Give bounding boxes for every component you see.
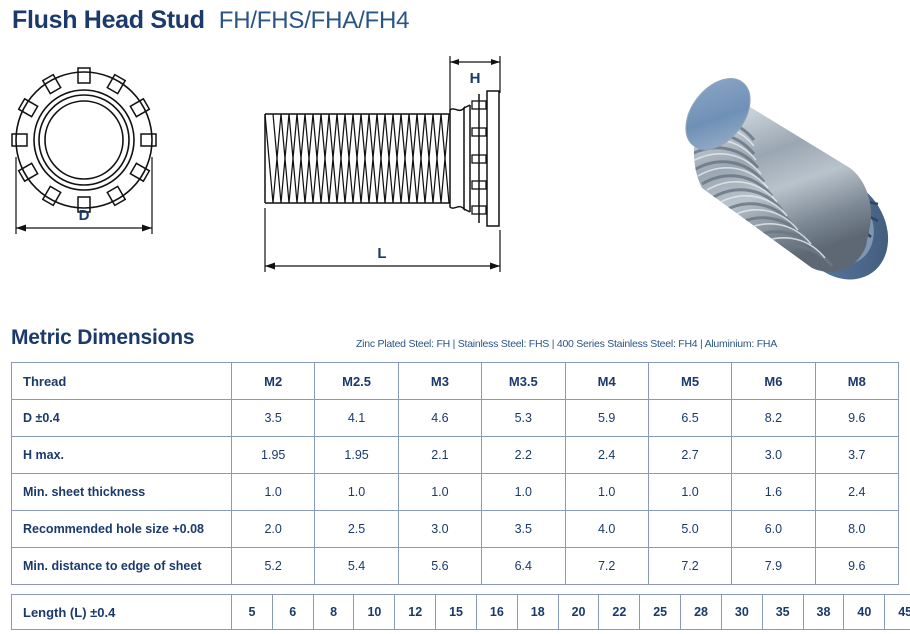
table-cell: 1.95 xyxy=(315,437,398,474)
table-row: H max.1.951.952.12.22.42.73.03.7 xyxy=(12,437,899,474)
technical-drawings: D xyxy=(0,48,910,298)
table-cell: 4.6 xyxy=(398,400,481,437)
length-value-cell: 15 xyxy=(436,595,477,630)
row-label: H max. xyxy=(12,437,232,474)
l-dimension-lines xyxy=(265,208,500,272)
table-cell: 5.4 xyxy=(315,548,398,585)
section-header: Metric Dimensions Zinc Plated Steel: FH … xyxy=(0,326,910,358)
top-view-figure: D xyxy=(6,52,206,297)
table-cell: 3.0 xyxy=(732,437,815,474)
table-row: Min. distance to edge of sheet5.25.45.66… xyxy=(12,548,899,585)
product-photo xyxy=(662,56,902,291)
length-value-cell: 8 xyxy=(313,595,354,630)
side-view-figure: H L xyxy=(243,48,533,293)
length-value-cell: 38 xyxy=(803,595,844,630)
dimension-label-h: H xyxy=(470,70,481,87)
table-cell: 3.5 xyxy=(482,511,565,548)
table-cell: 7.2 xyxy=(648,548,731,585)
metric-dimensions-heading: Metric Dimensions xyxy=(11,326,194,350)
shaft-circle-inner xyxy=(45,101,123,179)
column-header-m3: M3 xyxy=(398,363,481,400)
length-value-cell: 35 xyxy=(762,595,803,630)
table-cell: 5.3 xyxy=(482,400,565,437)
table-cell: 9.6 xyxy=(815,548,898,585)
table-header-row: ThreadM2M2.5M3M3.5M4M5M6M8 xyxy=(12,363,899,400)
product-photo-render xyxy=(662,56,902,286)
column-header-m2.5: M2.5 xyxy=(315,363,398,400)
table-cell: 5.6 xyxy=(398,548,481,585)
length-value-cell: 20 xyxy=(558,595,599,630)
length-value-cell: 6 xyxy=(272,595,313,630)
table-cell: 8.0 xyxy=(815,511,898,548)
length-value-cell: 18 xyxy=(517,595,558,630)
table-cell: 4.1 xyxy=(315,400,398,437)
column-header-m2: M2 xyxy=(232,363,315,400)
table-cell: 6.5 xyxy=(648,400,731,437)
table-cell: 1.0 xyxy=(565,474,648,511)
length-value-cell: 22 xyxy=(599,595,640,630)
row-label: Recommended hole size +0.08 xyxy=(12,511,232,548)
table-cell: 1.0 xyxy=(482,474,565,511)
column-header-m4: M4 xyxy=(565,363,648,400)
length-table: Length (L) ±0.45681012151618202225283035… xyxy=(11,594,910,630)
table-cell: 8.2 xyxy=(732,400,815,437)
table-cell: 2.1 xyxy=(398,437,481,474)
page-title: Flush Head Stud xyxy=(12,6,205,35)
dimension-label-l: L xyxy=(377,245,386,262)
table-cell: 5.0 xyxy=(648,511,731,548)
column-header-thread: Thread xyxy=(12,363,232,400)
table-cell: 5.9 xyxy=(565,400,648,437)
table-cell: 2.4 xyxy=(815,474,898,511)
column-header-m5: M5 xyxy=(648,363,731,400)
head-shoulder xyxy=(450,105,470,212)
table-row: Min. sheet thickness1.01.01.01.01.01.01.… xyxy=(12,474,899,511)
metric-dimensions-table: ThreadM2M2.5M3M3.5M4M5M6M8D ±0.43.54.14.… xyxy=(11,362,899,585)
table-cell: 1.0 xyxy=(398,474,481,511)
table-cell: 1.95 xyxy=(232,437,315,474)
thread-profile xyxy=(265,114,449,203)
table-cell: 2.2 xyxy=(482,437,565,474)
length-value-cell: 12 xyxy=(395,595,436,630)
length-row: Length (L) ±0.45681012151618202225283035… xyxy=(12,595,910,630)
column-header-m3.5: M3.5 xyxy=(482,363,565,400)
table-cell: 5.2 xyxy=(232,548,315,585)
table-cell: 7.9 xyxy=(732,548,815,585)
table-cell: 1.0 xyxy=(232,474,315,511)
table-cell: 7.2 xyxy=(565,548,648,585)
length-table-body: Length (L) ±0.45681012151618202225283035… xyxy=(12,595,910,630)
row-label: D ±0.4 xyxy=(12,400,232,437)
length-value-cell: 5 xyxy=(232,595,273,630)
length-value-cell: 25 xyxy=(640,595,681,630)
dimension-label-d: D xyxy=(79,207,90,224)
table-cell: 3.7 xyxy=(815,437,898,474)
column-header-m6: M6 xyxy=(732,363,815,400)
table-cell: 1.0 xyxy=(648,474,731,511)
row-label: Min. distance to edge of sheet xyxy=(12,548,232,585)
column-header-m8: M8 xyxy=(815,363,898,400)
flange-inner-circle xyxy=(34,90,134,190)
table-cell: 4.0 xyxy=(565,511,648,548)
length-value-cell: 28 xyxy=(681,595,722,630)
table-cell: 2.0 xyxy=(232,511,315,548)
table-cell: 3.0 xyxy=(398,511,481,548)
flange-outer-circle xyxy=(16,72,152,208)
table-cell: 6.4 xyxy=(482,548,565,585)
side-view-drawing: H L xyxy=(243,48,533,288)
product-codes: FH/FHS/FHA/FH4 xyxy=(219,7,410,35)
material-note: Zinc Plated Steel: FH | Stainless Steel:… xyxy=(356,338,777,350)
dim-table-body: ThreadM2M2.5M3M3.5M4M5M6M8D ±0.43.54.14.… xyxy=(12,363,899,585)
row-label: Min. sheet thickness xyxy=(12,474,232,511)
table-cell: 2.4 xyxy=(565,437,648,474)
length-row-label: Length (L) ±0.4 xyxy=(12,595,232,630)
shaft-circle-outer xyxy=(39,95,129,185)
top-view-drawing: D xyxy=(6,52,206,292)
length-value-cell: 16 xyxy=(476,595,517,630)
length-value-cell: 45 xyxy=(885,595,910,630)
length-value-cell: 30 xyxy=(721,595,762,630)
table-cell: 6.0 xyxy=(732,511,815,548)
table-row: Recommended hole size +0.082.02.53.03.54… xyxy=(12,511,899,548)
table-cell: 9.6 xyxy=(815,400,898,437)
table-cell: 3.5 xyxy=(232,400,315,437)
table-cell: 1.6 xyxy=(732,474,815,511)
length-value-cell: 10 xyxy=(354,595,395,630)
table-cell: 1.0 xyxy=(315,474,398,511)
length-value-cell: 40 xyxy=(844,595,885,630)
table-row: D ±0.43.54.14.65.35.96.58.29.6 xyxy=(12,400,899,437)
table-cell: 2.5 xyxy=(315,511,398,548)
table-cell: 2.7 xyxy=(648,437,731,474)
page-header: Flush Head Stud FH/FHS/FHA/FH4 xyxy=(12,6,409,35)
